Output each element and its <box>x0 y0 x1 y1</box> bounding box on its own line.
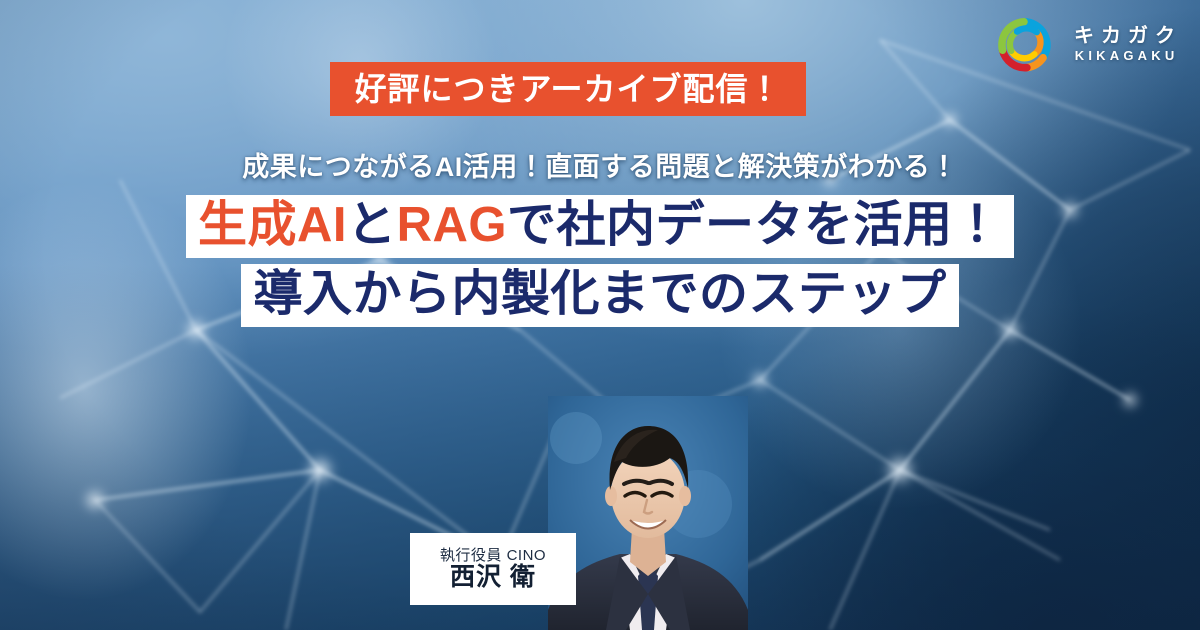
title-seg-5: 導入から内製化までのステップ <box>253 267 946 321</box>
headline-title-line-1: 生成AIとRAGで社内データを活用！ <box>186 195 1014 258</box>
speaker-name: 西沢 衛 <box>450 565 536 590</box>
speaker-nameplate: 執行役員 CINO 西沢 衛 <box>410 533 576 605</box>
archive-badge-label: 好評につきアーカイブ配信！ <box>354 73 781 105</box>
headline-subtitle: 成果につながるAI活用！直面する問題と解決策がわかる！ <box>0 150 1200 185</box>
headline-block: 成果につながるAI活用！直面する問題と解決策がわかる！ 生成AIとRAGで社内デ… <box>0 150 1200 327</box>
kikagaku-swirl-logo-icon <box>995 16 1053 74</box>
archive-badge: 好評につきアーカイブ配信！ <box>330 62 806 116</box>
kikagaku-logo: キカガク KIKAGAKU <box>995 16 1182 74</box>
logo-wordmark: キカガク KIKAGAKU <box>1067 25 1182 65</box>
speaker-role: 執行役員 CINO <box>440 548 546 563</box>
title-seg-2: と <box>347 198 397 252</box>
webinar-banner: キカガク KIKAGAKU 好評につきアーカイブ配信！ 成果につながるAI活用！… <box>0 0 1200 630</box>
logo-text-english: KIKAGAKU <box>1071 48 1179 65</box>
logo-text-japanese: キカガク <box>1067 25 1182 48</box>
headline-title-line-2: 導入から内製化までのステップ <box>241 264 958 327</box>
title-seg-3: RAG <box>397 198 507 252</box>
speaker-portrait-photo <box>548 396 748 630</box>
title-seg-4: で社内データを活用！ <box>507 198 1002 252</box>
title-seg-1: 生成AI <box>198 198 347 252</box>
headline-title-rows: 生成AIとRAGで社内データを活用！ 導入から内製化までのステップ <box>0 195 1200 327</box>
